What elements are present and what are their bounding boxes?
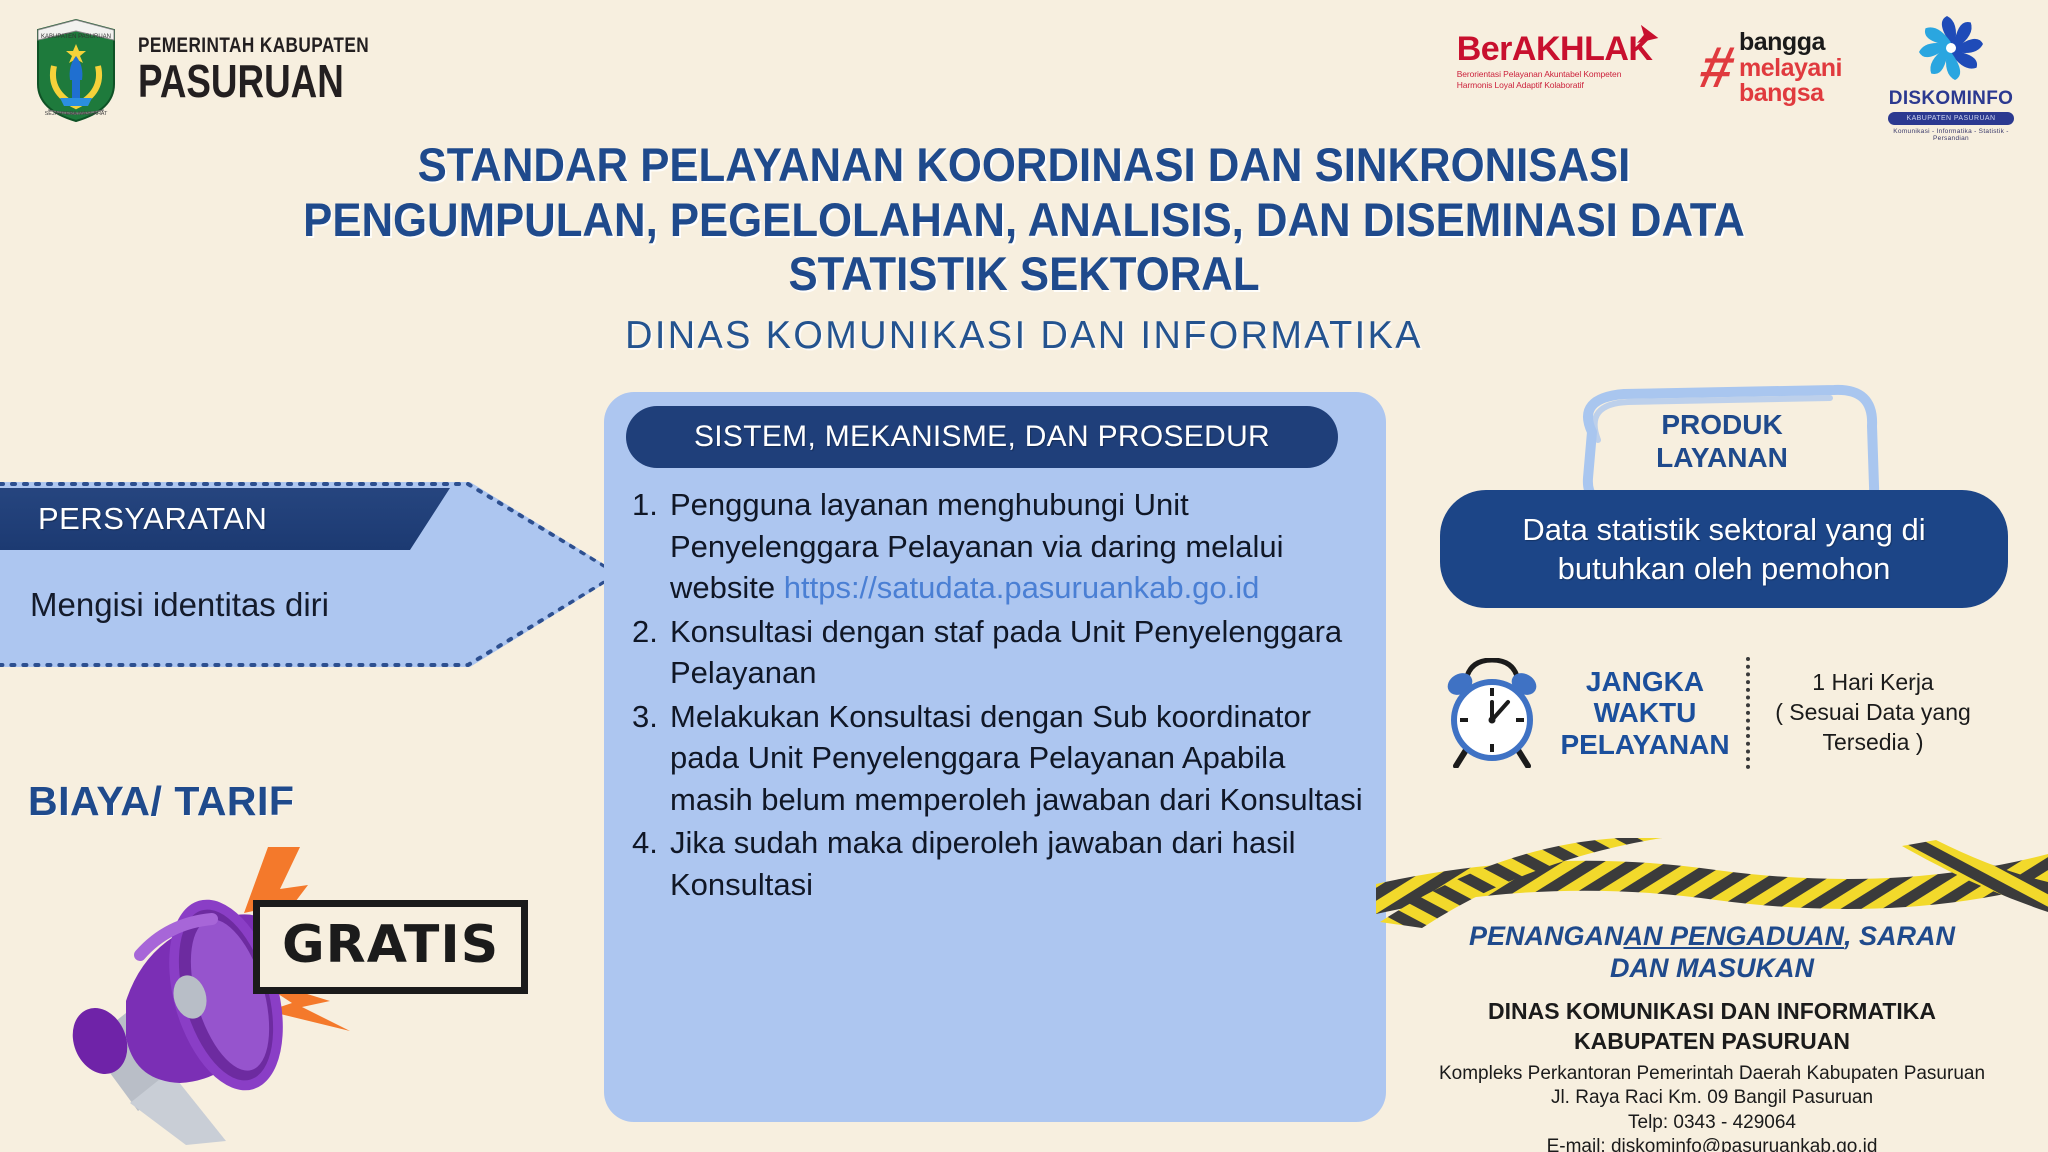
step-number: 4. xyxy=(632,822,670,905)
step-text: Pengguna layanan menghubungi Unit Penyel… xyxy=(670,484,1372,609)
persyaratan-section: PERSYARATAN Mengisi identitas diri xyxy=(0,482,620,667)
berakhlak-akhlak: AKHLAK xyxy=(1512,30,1653,68)
diskominfo-pill: KABUPATEN PASURUAN xyxy=(1888,112,2014,125)
footer-address: Kompleks Perkantoran Pemerintah Daerah K… xyxy=(1376,1062,2048,1152)
svg-text:KABUPATEN PASURUAN: KABUPATEN PASURUAN xyxy=(41,34,111,40)
step-number: 2. xyxy=(632,611,670,694)
footer-email[interactable]: E-mail: diskominfo@pasuruankab.go.id xyxy=(1376,1135,2048,1152)
jangka-label-line-1: JANGKA xyxy=(1550,666,1740,697)
gov-line-2: PASURUAN xyxy=(138,60,363,104)
list-item: 2. Konsultasi dengan staf pada Unit Peny… xyxy=(632,611,1372,694)
jangka-value-line-2: ( Sesuai Data yang xyxy=(1768,698,1978,728)
step-text: Melakukan Konsultasi dengan Sub koordina… xyxy=(670,696,1372,821)
persyaratan-heading: PERSYARATAN xyxy=(38,501,267,537)
list-item: 3. Melakukan Konsultasi dengan Sub koord… xyxy=(632,696,1372,821)
pasuruan-crest-icon: KABUPATEN PASURUAN SEJAHTERA MASLAHAT xyxy=(30,14,122,124)
footer-phone: Telp: 0343 - 429064 xyxy=(1376,1111,2048,1135)
produk-value-line-2: butuhkan oleh pemohon xyxy=(1558,549,1891,588)
list-item: 4. Jika sudah maka diperoleh jawaban dar… xyxy=(632,822,1372,905)
diskominfo-logo: DISKOMINFO KABUPATEN PASURUAN Komunikasi… xyxy=(1876,8,2026,142)
jangka-waktu-value: 1 Hari Kerja ( Sesuai Data yang Tersedia… xyxy=(1768,668,1978,758)
vertical-dotted-divider xyxy=(1746,657,1750,769)
footer-organisation: DINAS KOMUNIKASI DAN INFORMATIKA KABUPAT… xyxy=(1376,996,2048,1057)
bangga-melayani-bangsa-logo: # bangga melayani bangsa xyxy=(1701,8,1842,107)
step-text: Konsultasi dengan staf pada Unit Penyele… xyxy=(670,611,1372,694)
produk-label-line-2: LAYANAN xyxy=(1607,441,1837,474)
bangga-line-2: melayani xyxy=(1739,56,1842,82)
alarm-clock-icon xyxy=(1440,658,1544,768)
biaya-heading: BIAYA/ TARIF xyxy=(28,778,294,825)
footer-org-line-1: DINAS KOMUNIKASI DAN INFORMATIKA xyxy=(1376,996,2048,1026)
footer-org-line-2: KABUPATEN PASURUAN xyxy=(1376,1026,2048,1056)
pengaduan-line-2: DAN MASUKAN xyxy=(1376,952,2048,984)
pinwheel-icon xyxy=(1908,14,1994,86)
gratis-value: GRATIS xyxy=(282,915,499,975)
footer-address-line-2: Jl. Raya Raci Km. 09 Bangil Pasuruan xyxy=(1376,1086,2048,1110)
bangga-line-3: bangsa xyxy=(1739,81,1842,107)
title-subtitle: DINAS KOMUNIKASI DAN INFORMATIKA xyxy=(31,314,2018,358)
berakhlak-logo: BerAKHLAK ➤ Berorientasi Pelayanan Akunt… xyxy=(1457,8,1667,90)
jangka-waktu-label: JANGKA WAKTU PELAYANAN xyxy=(1550,666,1740,760)
prosedur-heading-pill: SISTEM, MEKANISME, DAN PROSEDUR xyxy=(626,406,1338,468)
jangka-label-line-3: PELAYANAN xyxy=(1550,729,1740,760)
pengaduan-suffix: , SARAN xyxy=(1844,921,1955,951)
title-line-3: STATISTIK SEKTORAL xyxy=(72,247,1977,302)
produk-layanan-label: PRODUK LAYANAN xyxy=(1607,408,1837,474)
jangka-label-line-2: WAKTU xyxy=(1550,697,1740,728)
footer-address-line-1: Kompleks Perkantoran Pemerintah Daerah K… xyxy=(1376,1062,2048,1086)
header-left-branding: KABUPATEN PASURUAN SEJAHTERA MASLAHAT PE… xyxy=(30,14,420,124)
bangga-line-1: bangga xyxy=(1739,30,1842,56)
step-url[interactable]: https://satudata.pasuruankab.go.id xyxy=(784,570,1260,605)
jangka-value-line-1: 1 Hari Kerja xyxy=(1768,668,1978,698)
jangka-waktu-section: JANGKA WAKTU PELAYANAN 1 Hari Kerja ( Se… xyxy=(1440,648,2040,778)
prosedur-step-list: 1. Pengguna layanan menghubungi Unit Pen… xyxy=(632,484,1372,907)
prosedur-heading: SISTEM, MEKANISME, DAN PROSEDUR xyxy=(694,420,1270,454)
infographic-poster: KABUPATEN PASURUAN SEJAHTERA MASLAHAT PE… xyxy=(0,0,2048,1152)
produk-label-line-1: PRODUK xyxy=(1607,408,1837,441)
svg-text:SEJAHTERA MASLAHAT: SEJAHTERA MASLAHAT xyxy=(45,111,108,117)
jangka-value-line-3: Tersedia ) xyxy=(1768,728,1978,758)
diskominfo-name: DISKOMINFO xyxy=(1876,88,2026,110)
berakhlak-tagline-1: Berorientasi Pelayanan Akuntabel Kompete… xyxy=(1457,69,1667,80)
header-right-logos: BerAKHLAK ➤ Berorientasi Pelayanan Akunt… xyxy=(1457,8,2026,142)
berakhlak-ber: Ber xyxy=(1457,30,1512,68)
persyaratan-heading-banner: PERSYARATAN xyxy=(0,488,450,550)
list-item: 1. Pengguna layanan menghubungi Unit Pen… xyxy=(632,484,1372,609)
hashtag-icon: # xyxy=(1696,45,1738,91)
persyaratan-item: Mengisi identitas diri xyxy=(30,586,329,624)
produk-value-line-1: Data statistik sektoral yang di xyxy=(1522,510,1925,549)
title-line-2: PENGUMPULAN, PEGELOLAHAN, ANALISIS, DAN … xyxy=(72,193,1977,248)
step-number: 3. xyxy=(632,696,670,821)
produk-layanan-section: PRODUK LAYANAN Data statistik sektoral y… xyxy=(1432,380,2032,610)
pengaduan-underlined: AN PENGADUAN xyxy=(1623,921,1844,951)
produk-layanan-value-pill: Data statistik sektoral yang di butuhkan… xyxy=(1440,490,2008,608)
pengaduan-prefix: PENANGAN xyxy=(1469,921,1624,951)
page-title: STANDAR PELAYANAN KOORDINASI DAN SINKRON… xyxy=(0,138,2048,358)
berakhlak-tagline-2: Harmonis Loyal Adaptif Kolaboratif xyxy=(1457,80,1667,91)
step-text: Jika sudah maka diperoleh jawaban dari h… xyxy=(670,822,1372,905)
hazard-tape-icon xyxy=(1376,836,2048,928)
pengaduan-line-1: PENANGANAN PENGADUAN, SARAN xyxy=(1376,920,2048,952)
megaphone-icon xyxy=(30,845,470,1145)
step-number: 1. xyxy=(632,484,670,609)
pengaduan-heading: PENANGANAN PENGADUAN, SARAN DAN MASUKAN xyxy=(1376,920,2048,985)
prosedur-panel: SISTEM, MEKANISME, DAN PROSEDUR 1. Pengg… xyxy=(604,392,1386,1122)
title-line-1: STANDAR PELAYANAN KOORDINASI DAN SINKRON… xyxy=(72,138,1977,193)
gratis-badge: GRATIS xyxy=(253,900,528,994)
